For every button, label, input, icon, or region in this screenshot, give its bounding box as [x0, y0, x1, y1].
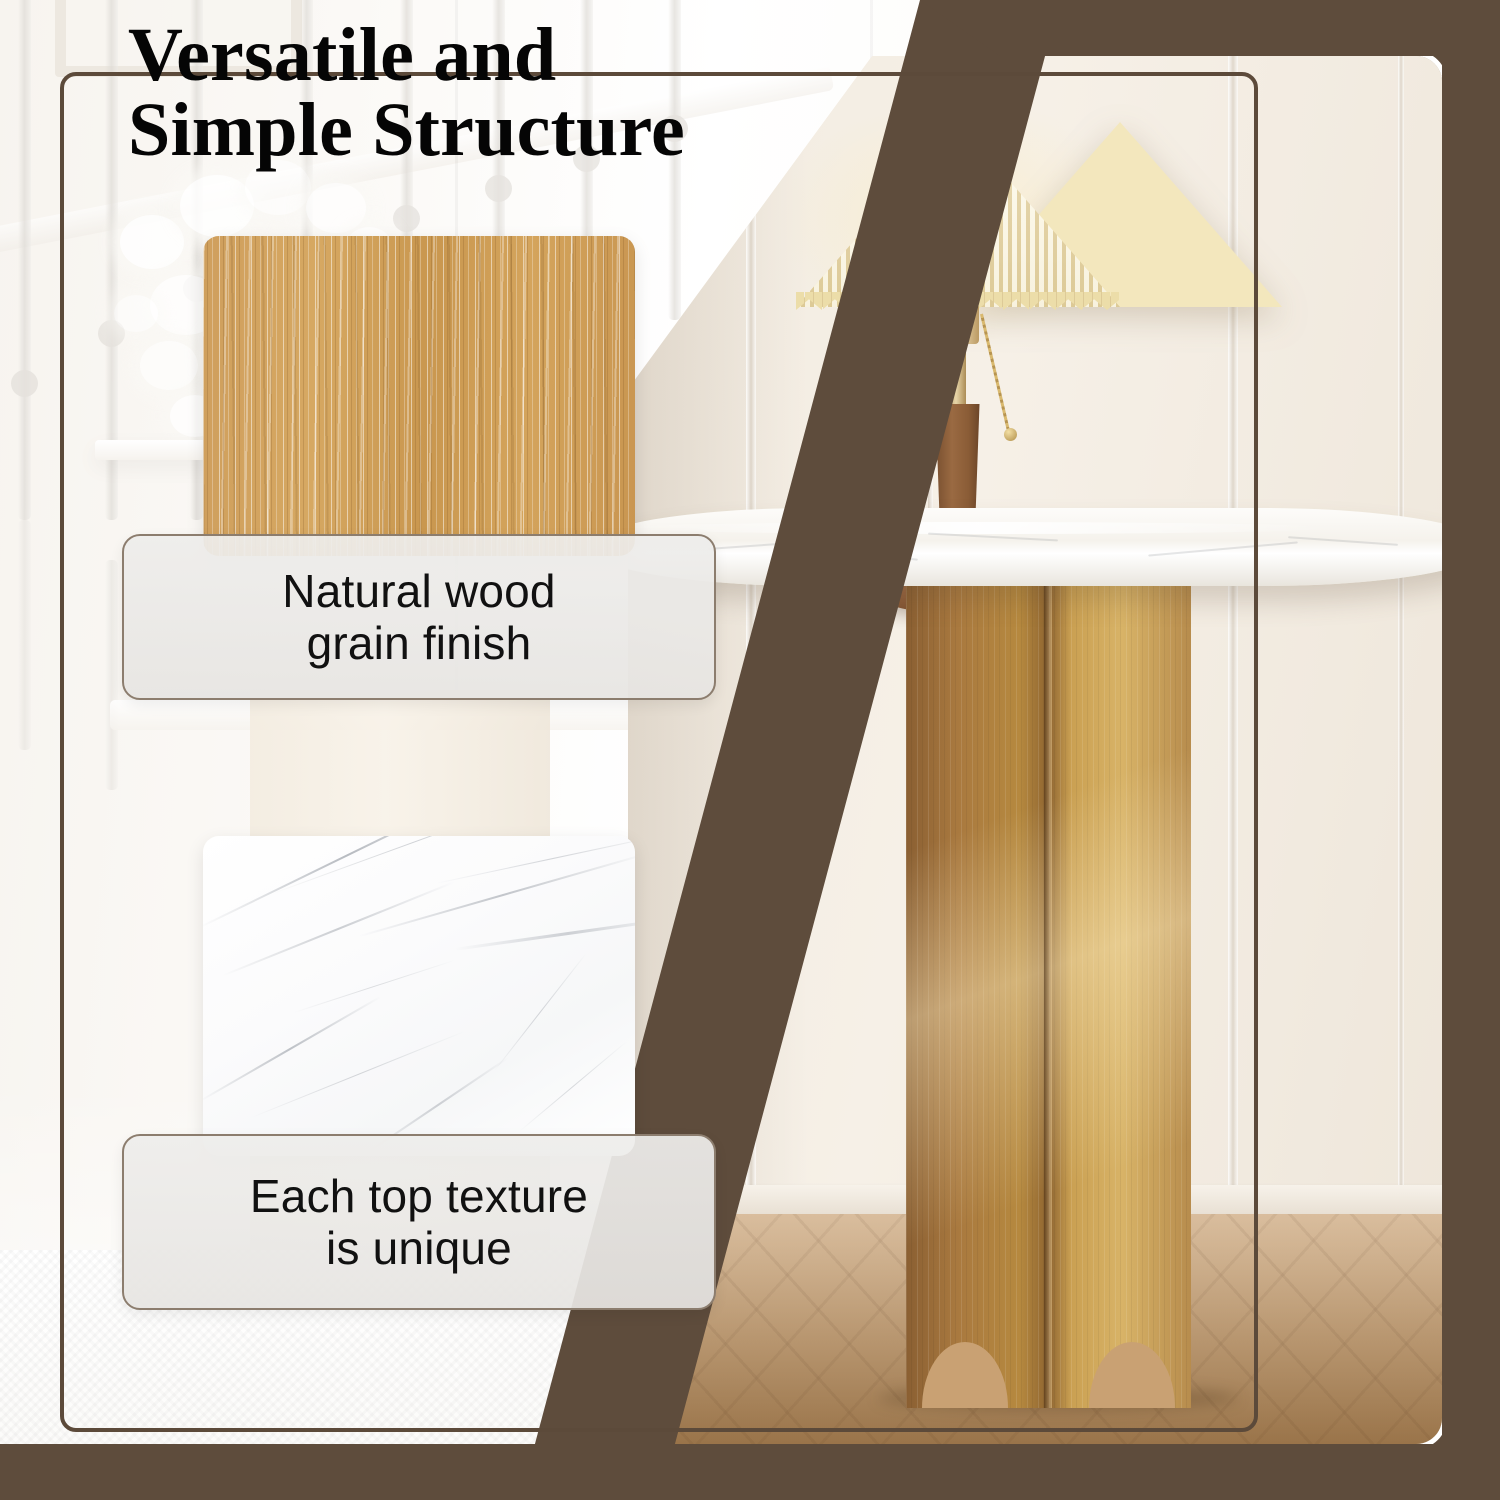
- title-line-2: Simple Structure: [128, 93, 888, 168]
- wood-grain-swatch: [203, 236, 635, 556]
- feature-label-wood: Natural wood grain finish: [122, 534, 716, 700]
- stair-baluster: [18, 520, 31, 750]
- marble-texture-swatch: [203, 836, 635, 1156]
- feature-label-line-2: is unique: [326, 1222, 512, 1274]
- feature-label-line-1: Each top texture: [250, 1170, 588, 1222]
- feature-label-line-1: Natural wood: [282, 565, 555, 617]
- title-line-1: Versatile and: [128, 18, 888, 93]
- feature-label-line-2: grain finish: [307, 617, 532, 669]
- feature-label-marble: Each top texture is unique: [122, 1134, 716, 1310]
- promo-banner: ACADIA: [0, 0, 1500, 1500]
- page-title: Versatile and Simple Structure: [128, 18, 888, 168]
- stair-baluster: [18, 0, 31, 520]
